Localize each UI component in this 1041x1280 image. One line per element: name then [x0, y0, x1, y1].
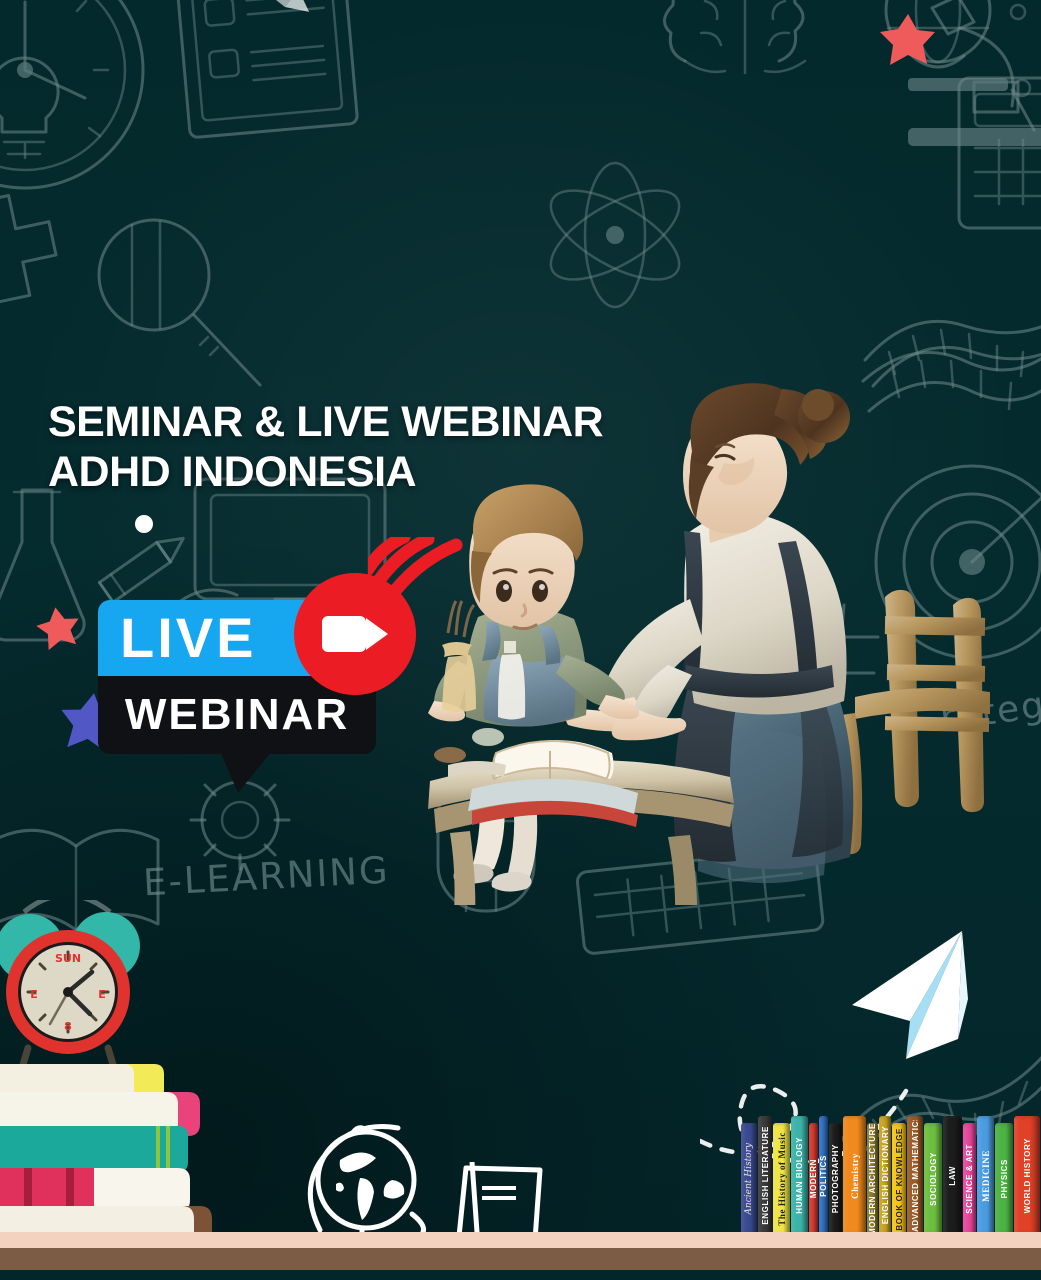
book-spine-title: PHYSICS: [1000, 1159, 1009, 1198]
book-spine[interactable]: English Literature: [758, 1116, 772, 1235]
book-spine-title: SOCIOLOGY: [929, 1152, 938, 1206]
book-spine[interactable]: PHOTOGRAPHY: [829, 1123, 842, 1235]
brain-doodle: [645, 0, 845, 95]
book-spine-title: Ancient History: [744, 1143, 754, 1215]
star-red-top-doodle: [878, 10, 938, 70]
book-spine-title: MODERN: [809, 1159, 818, 1198]
book-spine-title: Chemistry: [850, 1153, 860, 1199]
book-spine-title: WORLD HISTORY: [1023, 1138, 1032, 1213]
svg-text:E: E: [98, 988, 106, 1001]
wooden-chair: [834, 590, 990, 854]
book-spine[interactable]: ENGLISH DICTIONARY: [879, 1116, 891, 1235]
book-spine-title: LAW: [948, 1166, 957, 1186]
bulb-doodle: [0, 40, 84, 180]
svg-text:E: E: [30, 988, 38, 1001]
poster-canvas: E-LEARNING rategy: [0, 0, 1041, 1280]
live-label: LIVE: [120, 610, 256, 666]
book-spine[interactable]: Ancient History: [741, 1123, 757, 1235]
headline-line-1: SEMINAR & LIVE WEBINAR: [48, 398, 603, 446]
book-spine-title: PHOTOGRAPHY: [831, 1144, 840, 1213]
shelf-shadow: [0, 1270, 1041, 1280]
book-spine-title: HUMAN BIOLOGY: [795, 1137, 804, 1214]
pencil-doodle: [190, 0, 320, 50]
paper-airplane-icon: [852, 931, 968, 1059]
book-spine-title: BOOK OF KNOWLEDGE: [895, 1128, 904, 1231]
book-spine[interactable]: PHYSICS: [995, 1123, 1013, 1235]
book-stack: [0, 1064, 212, 1254]
book-spine-title: ENGLISH DICTIONARY: [881, 1126, 890, 1224]
book-spine-title: MEDICINE: [981, 1150, 991, 1202]
plus-doodle: [0, 190, 82, 310]
book-spine[interactable]: Modern Architecture: [867, 1123, 878, 1235]
bookshelf-row: Ancient HistoryEnglish LiteratureThe His…: [741, 1107, 1041, 1235]
book-spine[interactable]: HUMAN BIOLOGY: [791, 1116, 808, 1235]
svg-text:SUN: SUN: [55, 952, 81, 965]
book-spine[interactable]: Chemistry: [843, 1116, 866, 1235]
book-spine[interactable]: SOCIOLOGY: [924, 1123, 942, 1235]
book-spine[interactable]: The History of Music: [773, 1123, 790, 1235]
book-spine[interactable]: LAW: [943, 1116, 962, 1235]
book-spine-title: SCIENCE & ART: [965, 1144, 974, 1214]
book-spine[interactable]: ADVANCED MATHEMATICS: [907, 1116, 923, 1235]
record-badge: [294, 573, 416, 695]
book-spine-title: POLITICS: [819, 1155, 828, 1197]
book-spine-title: Modern Architecture: [868, 1123, 877, 1235]
book-spine[interactable]: POLITICS: [819, 1116, 828, 1235]
book-spine[interactable]: WORLD HISTORY: [1014, 1116, 1040, 1235]
alarm-clock: SUN E E 8: [0, 900, 140, 1068]
calculator-doodle: [945, 60, 1041, 260]
magnifier-doodle: [82, 205, 282, 405]
book-spine-title: The History of Music: [777, 1132, 787, 1226]
live-webinar-badge: LIVE WEBINAR: [98, 545, 458, 780]
book-spine[interactable]: MODERN: [809, 1123, 818, 1235]
book-spine[interactable]: MEDICINE: [977, 1116, 994, 1235]
book-spine[interactable]: BOOK OF KNOWLEDGE: [892, 1123, 906, 1235]
book-spine-title: ADVANCED MATHEMATICS: [911, 1120, 920, 1232]
globe-continents: [336, 1152, 404, 1220]
webinar-label: WEBINAR: [125, 693, 349, 737]
video-camera-icon: [322, 616, 388, 652]
page-title: SEMINAR & LIVE WEBINAR ADHD INDONESIA: [48, 398, 688, 498]
book-spine[interactable]: SCIENCE & ART: [963, 1123, 976, 1235]
svg-text:8: 8: [64, 1020, 72, 1033]
shelf-edge: [0, 1248, 1041, 1272]
atom-doodle: [530, 150, 700, 320]
speech-bubble-tail: [220, 751, 272, 793]
star-red-icon: [36, 605, 82, 651]
headline-line-2: ADHD INDONESIA: [48, 448, 688, 498]
book-spine-title: English Literature: [761, 1126, 770, 1225]
alarm-clock-and-books: SUN E E 8: [0, 900, 263, 1280]
